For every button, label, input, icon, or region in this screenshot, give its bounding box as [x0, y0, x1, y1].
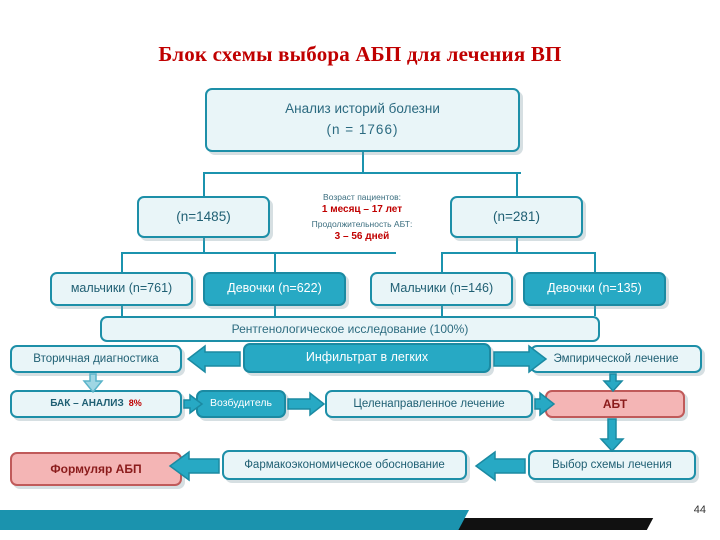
connector-analysis-down: [362, 152, 364, 172]
slide-canvas: Блок схемы выбора АБП для лечения ВП Ана…: [0, 0, 720, 540]
page-number: 44: [694, 504, 706, 516]
connector-girls135-down: [594, 306, 596, 316]
node-bak-analysis-percent: 8%: [129, 398, 142, 409]
node-empiric-treatment: Эмпирической лечение: [530, 345, 702, 373]
node-infiltrate: Инфильтрат в легких: [243, 343, 491, 373]
age-note-line3: Продолжительность АБТ:: [282, 218, 442, 230]
connector-girls622-down: [274, 306, 276, 316]
node-abt: АБТ: [545, 390, 685, 418]
node-scheme-choice: Выбор схемы лечения: [528, 450, 696, 480]
node-case-analysis: Анализ историй болезни (n = 1766): [205, 88, 520, 152]
connector-to-girls622: [274, 252, 276, 272]
node-formulary: Формуляр АБП: [10, 452, 182, 486]
connector-to-boys146: [441, 252, 443, 272]
arrow-empiric-to-abt: [604, 374, 622, 391]
node-pharmacoeconomics: Фармакоэкономическое обоснование: [222, 450, 467, 480]
age-note: Возраст пациентов: 1 месяц – 17 лет Прод…: [282, 191, 442, 245]
footer-white-strip: [0, 530, 720, 540]
node-group-right: (n=281): [450, 196, 583, 238]
node-girls-135: Девочки (n=135): [523, 272, 666, 306]
node-bak-analysis: БАК – АНАЛИЗ 8%: [10, 390, 182, 418]
node-case-analysis-line2: (n = 1766): [327, 122, 399, 139]
node-secondary-diagnostics: Вторичная диагностика: [10, 345, 182, 373]
node-bak-analysis-label: БАК – АНАЛИЗ: [50, 398, 124, 411]
arrow-scheme-to-pharmaco: [476, 452, 525, 480]
connector-to-left-group: [203, 172, 205, 196]
age-note-line2: 1 месяц – 17 лет: [282, 203, 442, 218]
connector-to-right-group: [516, 172, 518, 196]
connector-to-boys761: [121, 252, 123, 272]
node-xray: Рентгенологическое исследование (100%): [100, 316, 600, 342]
age-note-line4: 3 – 56 дней: [282, 230, 442, 245]
arrow-pathogen-to-targeted: [288, 393, 324, 415]
arrow-infiltrate-to-secdiag: [188, 346, 240, 372]
connector-right-split: [441, 252, 594, 254]
footer-decoration: [0, 494, 720, 540]
node-boys-761: мальчики (n=761): [50, 272, 193, 306]
node-boys-146: Мальчики (n=146): [370, 272, 513, 306]
age-note-line1: Возраст пациентов:: [282, 191, 442, 203]
node-targeted-treatment: Целенаправленное лечение: [325, 390, 533, 418]
node-group-left: (n=1485): [137, 196, 270, 238]
connector-boys761-down: [121, 306, 123, 316]
node-girls-622: Девочки (n=622): [203, 272, 346, 306]
page-title: Блок схемы выбора АБП для лечения ВП: [0, 42, 720, 67]
arrow-abt-to-scheme: [601, 419, 623, 451]
node-pathogen: Возбудитель: [196, 390, 286, 418]
connector-split-top: [203, 172, 521, 174]
node-case-analysis-line1: Анализ историй болезни: [285, 101, 440, 118]
connector-boys146-down: [441, 306, 443, 316]
connector-to-girls135: [594, 252, 596, 272]
connector-left-split: [121, 252, 396, 254]
connector-left-group-down: [203, 238, 205, 252]
connector-right-group-down: [516, 238, 518, 252]
